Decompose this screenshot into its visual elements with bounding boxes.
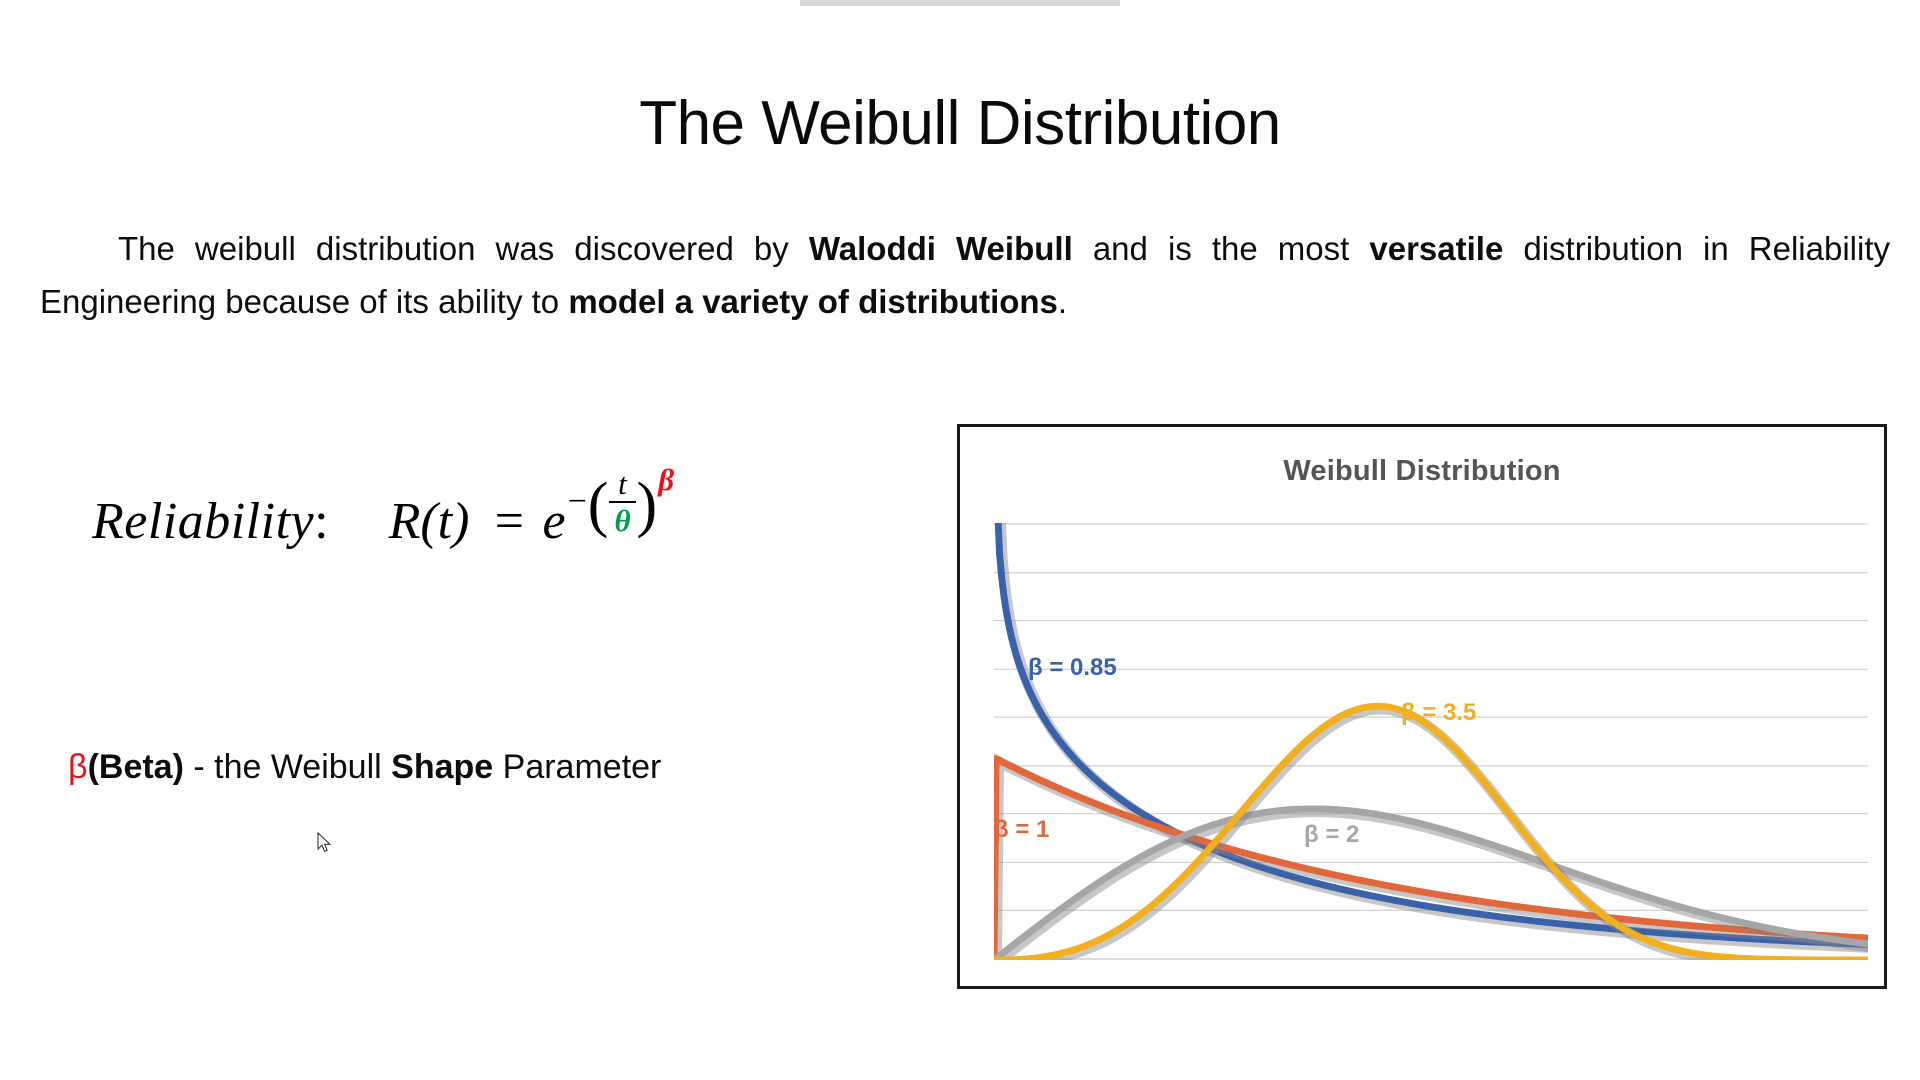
reliability-formula: Reliability: R(t) = e−(tθ)β (92, 492, 673, 562)
formula-equals: = (491, 492, 526, 551)
curve-label-beta-35: β = 3.5 (1401, 699, 1476, 727)
formula-function: R(t) (389, 492, 470, 551)
formula-superscript-beta: β (658, 462, 674, 498)
paragraph-bold-versatile: versatile (1369, 230, 1503, 267)
chart-inner-panel: Weibull Distribution β = 0.85 β = 3.5 β … (964, 431, 1880, 982)
mouse-cursor-icon (317, 832, 333, 854)
weibull-distribution-chart: Weibull Distribution β = 0.85 β = 3.5 β … (957, 424, 1887, 989)
formula-minus-sign: − (568, 483, 587, 521)
formula-denominator-theta: θ (609, 501, 635, 536)
chart-title: Weibull Distribution (964, 455, 1880, 488)
chart-svg (994, 523, 1868, 960)
paragraph-part-1: The weibull distribution was discovered … (118, 230, 809, 267)
formula-numerator-t: t (613, 468, 632, 501)
curve-label-beta-2: β = 2 (1304, 821, 1359, 849)
beta-name-bold: (Beta) (88, 748, 184, 786)
top-edge-sliver (800, 0, 1120, 6)
beta-tail-text: Parameter (493, 748, 661, 786)
chart-plot-area (994, 523, 1868, 960)
chart-curves (994, 523, 1868, 960)
beta-shape-bold: Shape (391, 748, 493, 786)
curve-label-beta-1: β = 1 (994, 816, 1049, 844)
page-title: The Weibull Distribution (0, 90, 1920, 158)
paragraph-bold-model-variety: model a variety of distributions (568, 283, 1058, 320)
paragraph-bold-waloddi-weibull: Waloddi Weibull (809, 230, 1073, 267)
paragraph-part-4: . (1058, 283, 1067, 320)
formula-base-e: e (543, 492, 566, 551)
paragraph-part-2: and is the most (1073, 230, 1370, 267)
curve-label-beta-085: β = 0.85 (1028, 654, 1117, 682)
beta-symbol: β (68, 748, 88, 786)
beta-definition-line: β(Beta) - the Weibull Shape Parameter (68, 748, 661, 787)
beta-mid-text: - the Weibull (184, 748, 391, 786)
body-paragraph: The weibull distribution was discovered … (40, 222, 1890, 329)
formula-label: Reliability (92, 492, 314, 551)
formula-fraction: tθ (609, 468, 635, 536)
formula-exponent-group: −(tθ)β (568, 468, 673, 536)
formula-colon: : (314, 492, 328, 551)
